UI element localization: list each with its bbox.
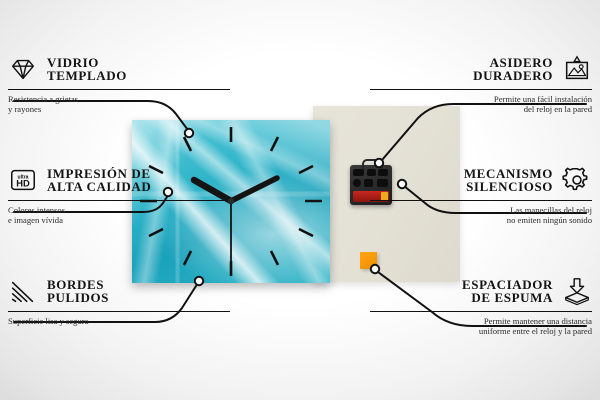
divider: [370, 89, 592, 90]
feature-vidrio-templado: VIDRIO TEMPLADO Resistencia a grietas y …: [8, 52, 230, 115]
ultra-hd-icon: ultra HD: [8, 165, 38, 195]
press-down-pad-icon: [562, 276, 592, 306]
picture-hanger-icon: [562, 54, 592, 84]
gear-icon: [562, 165, 592, 195]
feature-title: ESPACIADOR DE ESPUMA: [462, 278, 553, 305]
divider: [8, 311, 230, 312]
product-photo: [132, 106, 360, 282]
feature-title: VIDRIO TEMPLADO: [47, 56, 127, 83]
diamond-icon: [8, 54, 38, 84]
clock-dial: [132, 120, 330, 283]
feature-header: MECANISMO SILENCIOSO: [370, 163, 592, 197]
wall-clock: [132, 120, 330, 283]
feature-header: ASIDERO DURADERO: [370, 52, 592, 86]
product-infographic: VIDRIO TEMPLADO Resistencia a grietas y …: [0, 0, 600, 400]
feature-subtitle: Resistencia a grietas y rayones: [8, 94, 230, 115]
feature-title: ASIDERO DURADERO: [473, 56, 553, 83]
feature-title: BORDES PULIDOS: [47, 278, 109, 305]
svg-text:HD: HD: [16, 179, 30, 189]
divider: [8, 89, 230, 90]
feature-header: ESPACIADOR DE ESPUMA: [370, 274, 592, 308]
divider: [370, 311, 592, 312]
feature-header: VIDRIO TEMPLADO: [8, 52, 230, 86]
feature-subtitle: Permite mantener una distancia uniforme …: [370, 316, 592, 337]
feature-subtitle: Superficie lisa y segura: [8, 316, 230, 326]
feature-mecanismo-silencioso: MECANISMO SILENCIOSO Las manecillas del …: [370, 163, 592, 226]
polished-edges-icon: [8, 276, 38, 306]
feature-asidero-duradero: ASIDERO DURADERO Permite una fácil insta…: [370, 52, 592, 115]
feature-subtitle: Las manecillas del reloj no emiten ningú…: [370, 205, 592, 226]
divider: [370, 200, 592, 201]
feature-title: MECANISMO SILENCIOSO: [464, 167, 553, 194]
connector-dot-espaciador: [371, 265, 379, 273]
feature-espaciador-de-espuma: ESPACIADOR DE ESPUMA Permite mantener un…: [370, 274, 592, 337]
feature-subtitle: Permite una fácil instalación del reloj …: [370, 94, 592, 115]
